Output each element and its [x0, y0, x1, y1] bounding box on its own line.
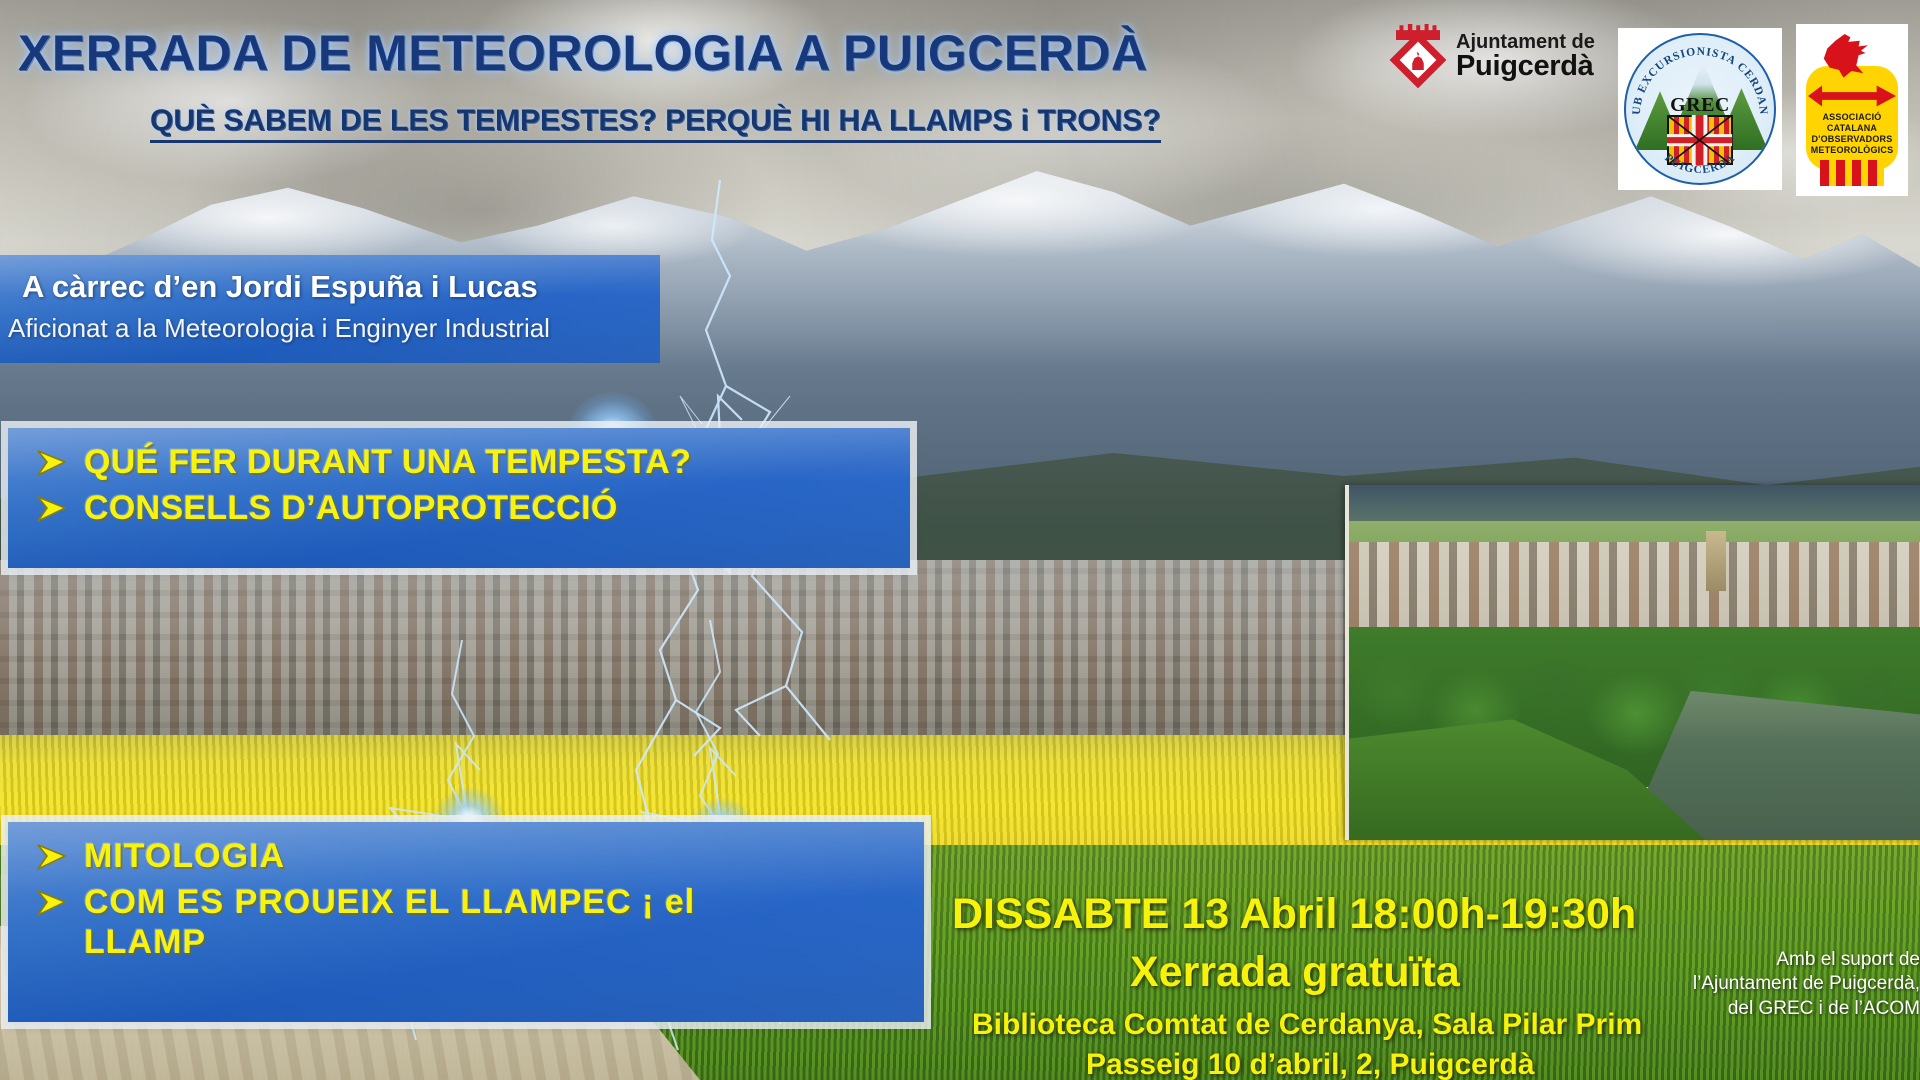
- chevron-arrow-icon: [34, 492, 68, 526]
- chevron-arrow-icon: [34, 446, 68, 480]
- logo-ajuntament-puigcerda: Ajuntament de Puigcerdà: [1390, 24, 1595, 90]
- svg-text:PUIGCERDA: PUIGCERDA: [1662, 152, 1737, 176]
- list-item: CONSELLS D’AUTOPROTECCIÓ: [34, 488, 910, 528]
- grec-ring-bottom-label: PUIGCERDA: [1662, 152, 1737, 176]
- list-item: QUÉ FER DURANT UNA TEMPESTA?: [34, 442, 910, 482]
- grec-seal-icon: GREC CLUB EXCURSIONISTA CERDANYA PUIGCER…: [1624, 33, 1776, 185]
- topic-label-1: QUÉ FER DURANT UNA TEMPESTA?: [84, 442, 691, 482]
- catalan-stripes-icon: [1820, 160, 1884, 186]
- topics-box: QUÉ FER DURANT UNA TEMPESTA? CONSELLS D’…: [8, 428, 910, 568]
- grec-ring-text: CLUB EXCURSIONISTA CERDANYA PUIGCERDA: [1626, 35, 1774, 183]
- logo-grec: GREC CLUB EXCURSIONISTA CERDANYA PUIGCER…: [1618, 28, 1782, 190]
- ajuntament-line1: Ajuntament de: [1456, 32, 1595, 52]
- chevron-arrow-icon: [34, 886, 68, 920]
- logo-acom: ASSOCIACIÓ CATALANA D'OBSERVADORS METEOR…: [1796, 24, 1908, 196]
- speaker-name: A càrrec d’en Jordi Espuña i Lucas: [22, 269, 538, 305]
- speaker-role: Aficionat a la Meteorologia i Enginyer I…: [8, 313, 550, 344]
- speaker-box: A càrrec d’en Jordi Espuña i Lucas Afici…: [0, 255, 660, 363]
- svg-text:CLUB EXCURSIONISTA CERDANYA: CLUB EXCURSIONISTA CERDANYA: [1626, 35, 1769, 116]
- ajuntament-line2: Puigcerdà: [1456, 52, 1595, 82]
- ajuntament-crest-icon: [1390, 24, 1446, 90]
- acom-label: ASSOCIACIÓ CATALANA D'OBSERVADORS METEOR…: [1800, 112, 1904, 156]
- support-line-3: del GREC i de l’ACOM: [1630, 997, 1920, 1021]
- support-line-2: l’Ajuntament de Puigcerdà,: [1630, 972, 1920, 996]
- mythology-box: MITOLOGIA COM ES PROUEIX EL LLAMPEC ¡ el…: [8, 822, 924, 1022]
- chevron-arrow-icon: [34, 840, 68, 874]
- support-credits: Amb el suport de l’Ajuntament de Puigcer…: [1630, 948, 1920, 1021]
- page-title: XERRADA DE METEOROLOGIA A PUIGCERDÀ: [18, 24, 1138, 82]
- poster-canvas: XERRADA DE METEOROLOGIA A PUIGCERDÀ QUÈ …: [0, 0, 1920, 1080]
- mythology-bullet-list: MITOLOGIA COM ES PROUEIX EL LLAMPEC ¡ el…: [8, 822, 924, 1022]
- inset-bell-tower: [1706, 531, 1726, 591]
- event-venue: Biblioteca Comtat de Cerdanya, Sala Pila…: [972, 1008, 1642, 1042]
- puigcerda-inset-photo: [1345, 485, 1920, 840]
- support-line-1: Amb el suport de: [1630, 948, 1920, 972]
- list-item: COM ES PROUEIX EL LLAMPEC ¡ el LLAMP: [34, 882, 924, 962]
- page-subtitle: QUÈ SABEM DE LES TEMPESTES? PERQUÈ HI HA…: [150, 104, 1161, 143]
- list-item: MITOLOGIA: [34, 836, 924, 876]
- mythology-label-2: COM ES PROUEIX EL LLAMPEC ¡ el LLAMP: [84, 882, 695, 962]
- mythology-label-1: MITOLOGIA: [84, 836, 285, 876]
- event-price: Xerrada gratuïta: [1130, 948, 1460, 997]
- acom-mark: ASSOCIACIÓ CATALANA D'OBSERVADORS METEOR…: [1800, 28, 1904, 192]
- event-address: Passeig 10 d’abril, 2, Puigcerdà: [1086, 1048, 1535, 1080]
- grec-ring-top-label: CLUB EXCURSIONISTA CERDANYA: [1626, 35, 1769, 116]
- ajuntament-wordmark: Ajuntament de Puigcerdà: [1456, 32, 1595, 82]
- event-date-time: DISSABTE 13 Abril 18:00h-19:30h: [952, 890, 1636, 939]
- topic-label-2: CONSELLS D’AUTOPROTECCIÓ: [84, 488, 618, 528]
- topics-bullet-list: QUÉ FER DURANT UNA TEMPESTA? CONSELLS D’…: [8, 428, 910, 568]
